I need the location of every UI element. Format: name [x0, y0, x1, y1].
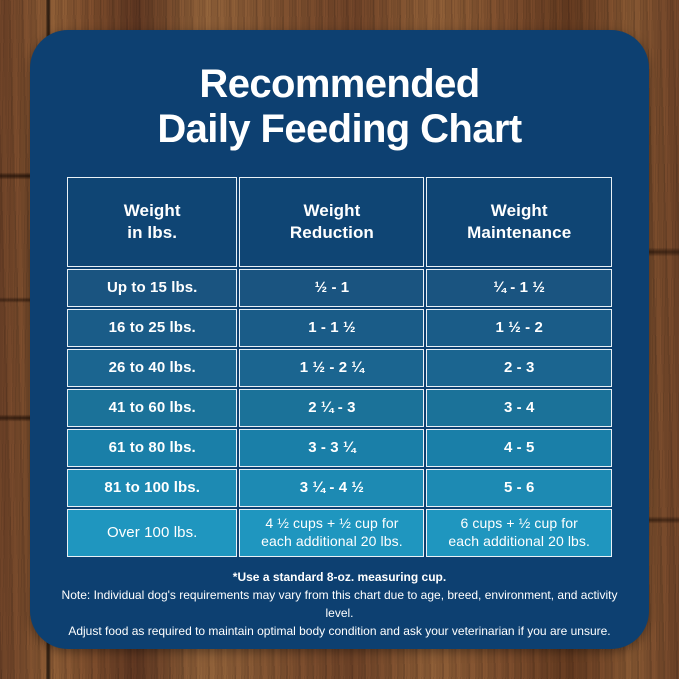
- page-title-line-1: Recommended: [70, 62, 609, 107]
- column-header-reduction-line-2: Reduction: [240, 222, 423, 244]
- cell-maintenance-line-1: 6 cups + ½ cup for: [431, 515, 607, 533]
- table-row: 61 to 80 lbs. 3 - 3 ¼ 4 - 5: [67, 429, 612, 467]
- cell-weight: 61 to 80 lbs.: [67, 429, 237, 467]
- cell-weight: 81 to 100 lbs.: [67, 469, 237, 507]
- cell-weight: Over 100 lbs.: [67, 509, 237, 557]
- cell-maintenance: 3 - 4: [426, 389, 612, 427]
- footnote-note-line-2: Adjust food as required to maintain opti…: [56, 622, 623, 640]
- footnotes: *Use a standard 8-oz. measuring cup. Not…: [30, 559, 649, 640]
- feeding-table: Weight in lbs. Weight Reduction Weight M…: [65, 175, 614, 559]
- table-row: 41 to 60 lbs. 2 ¼ - 3 3 - 4: [67, 389, 612, 427]
- cell-reduction-line-2: each additional 20 lbs.: [244, 533, 419, 551]
- cell-reduction: 2 ¼ - 3: [239, 389, 424, 427]
- feeding-table-container: Weight in lbs. Weight Reduction Weight M…: [30, 152, 649, 559]
- cell-maintenance: 2 - 3: [426, 349, 612, 387]
- column-header-weight-line-2: in lbs.: [68, 222, 236, 244]
- footnote-note-line-1: Note: Individual dog's requirements may …: [56, 586, 623, 622]
- column-header-weight: Weight in lbs.: [67, 177, 237, 267]
- column-header-maintenance-line-1: Weight: [427, 200, 611, 222]
- cell-maintenance: 5 - 6: [426, 469, 612, 507]
- column-header-maintenance-line-2: Maintenance: [427, 222, 611, 244]
- footnote-note: Note: Individual dog's requirements may …: [56, 586, 623, 640]
- column-header-reduction-line-1: Weight: [240, 200, 423, 222]
- table-row: Up to 15 lbs. ½ - 1 ¼ - 1 ½: [67, 269, 612, 307]
- table-row: Over 100 lbs. 4 ½ cups + ½ cup for each …: [67, 509, 612, 557]
- cell-weight: 16 to 25 lbs.: [67, 309, 237, 347]
- cell-maintenance-line-2: each additional 20 lbs.: [431, 533, 607, 551]
- page-title: Recommended Daily Feeding Chart: [30, 30, 649, 152]
- cell-maintenance: 1 ½ - 2: [426, 309, 612, 347]
- table-row: 81 to 100 lbs. 3 ¼ - 4 ½ 5 - 6: [67, 469, 612, 507]
- cell-weight: 41 to 60 lbs.: [67, 389, 237, 427]
- column-header-weight-reduction: Weight Reduction: [239, 177, 424, 267]
- cell-reduction-line-1: 4 ½ cups + ½ cup for: [244, 515, 419, 533]
- page-title-line-2: Daily Feeding Chart: [70, 107, 609, 152]
- footnote-measuring-cup: *Use a standard 8-oz. measuring cup.: [56, 568, 623, 586]
- column-header-weight-maintenance: Weight Maintenance: [426, 177, 612, 267]
- cell-reduction: 3 ¼ - 4 ½: [239, 469, 424, 507]
- cell-reduction: 4 ½ cups + ½ cup for each additional 20 …: [239, 509, 424, 557]
- cell-weight: 26 to 40 lbs.: [67, 349, 237, 387]
- cell-reduction: ½ - 1: [239, 269, 424, 307]
- cell-reduction: 1 ½ - 2 ¼: [239, 349, 424, 387]
- cell-maintenance: 6 cups + ½ cup for each additional 20 lb…: [426, 509, 612, 557]
- column-header-weight-line-1: Weight: [68, 200, 236, 222]
- cell-reduction: 1 - 1 ½: [239, 309, 424, 347]
- table-row: 16 to 25 lbs. 1 - 1 ½ 1 ½ - 2: [67, 309, 612, 347]
- cell-maintenance: ¼ - 1 ½: [426, 269, 612, 307]
- table-body: Up to 15 lbs. ½ - 1 ¼ - 1 ½ 16 to 25 lbs…: [67, 269, 612, 557]
- cell-maintenance: 4 - 5: [426, 429, 612, 467]
- feeding-chart-card: Recommended Daily Feeding Chart Weight i…: [30, 30, 649, 649]
- table-header: Weight in lbs. Weight Reduction Weight M…: [67, 177, 612, 267]
- table-row: 26 to 40 lbs. 1 ½ - 2 ¼ 2 - 3: [67, 349, 612, 387]
- table-header-row: Weight in lbs. Weight Reduction Weight M…: [67, 177, 612, 267]
- cell-reduction: 3 - 3 ¼: [239, 429, 424, 467]
- cell-weight: Up to 15 lbs.: [67, 269, 237, 307]
